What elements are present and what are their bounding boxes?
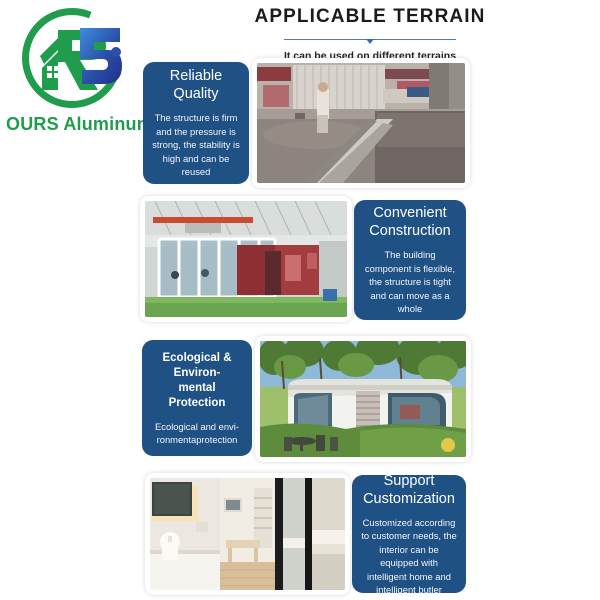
brand-name: OURS Aluminum: [6, 114, 148, 135]
feature-panel-reliable-quality: Reliable Quality The structure is firm a…: [143, 62, 249, 184]
page-title: APPLICABLE TERRAIN: [150, 4, 590, 28]
feature-title-line1: Reliable: [170, 68, 222, 84]
feature-title-line2: Construction: [369, 223, 450, 239]
feature-title-line1: Convenient: [373, 205, 446, 221]
page-header: APPLICABLE TERRAIN It can be used on dif…: [150, 4, 590, 63]
feature-body: Ecological and envi- ronmentaprotection: [155, 420, 239, 446]
factory-aluminum-panel-line-photo: [257, 63, 465, 183]
feature-body-line1: Ecological and envi-: [155, 421, 239, 432]
feature-title: Convenient Construction: [369, 204, 450, 240]
feature-title-line1: Support: [384, 473, 435, 489]
interior-bathroom-corridor-photo: [150, 478, 345, 590]
feature-title-line2: mental Protection: [169, 382, 226, 409]
feature-title: Support Customization: [363, 472, 455, 508]
rs-house-monogram-icon: [20, 6, 132, 114]
logo-monogram-svg: [20, 6, 132, 114]
brand-logo: OURS Aluminum: [6, 6, 148, 142]
feature-panel-convenient-construction: Convenient Construction The building com…: [354, 200, 466, 320]
feature-photo-frame: [145, 473, 350, 595]
feature-title: Reliable Quality: [170, 67, 222, 103]
modern-white-cabin-garden-photo: [260, 341, 466, 457]
feature-title-line1: Ecological & Environ-: [162, 352, 231, 379]
feature-panel-support-customization: Support Customization Customized accordi…: [352, 475, 466, 593]
feature-body: Customized according to customer needs, …: [359, 516, 459, 597]
feature-body: The building component is flexible, the …: [361, 248, 459, 316]
feature-title-line2: Customization: [363, 491, 455, 507]
feature-body: The structure is firm and the pressure i…: [150, 111, 242, 179]
title-divider: [284, 37, 456, 46]
feature-title: Ecological & Environ- mental Protection: [149, 351, 245, 411]
workshop-glass-container-house-photo: [145, 201, 347, 317]
feature-photo-frame: [252, 58, 470, 188]
feature-photo-frame: [255, 336, 471, 462]
feature-panel-ecological-protection: Ecological & Environ- mental Protection …: [142, 340, 252, 456]
feature-title-line2: Quality: [173, 86, 218, 102]
feature-body-line2: ronmentaprotection: [157, 434, 238, 445]
chevron-down-icon: [366, 39, 374, 44]
feature-photo-frame: [140, 196, 352, 322]
